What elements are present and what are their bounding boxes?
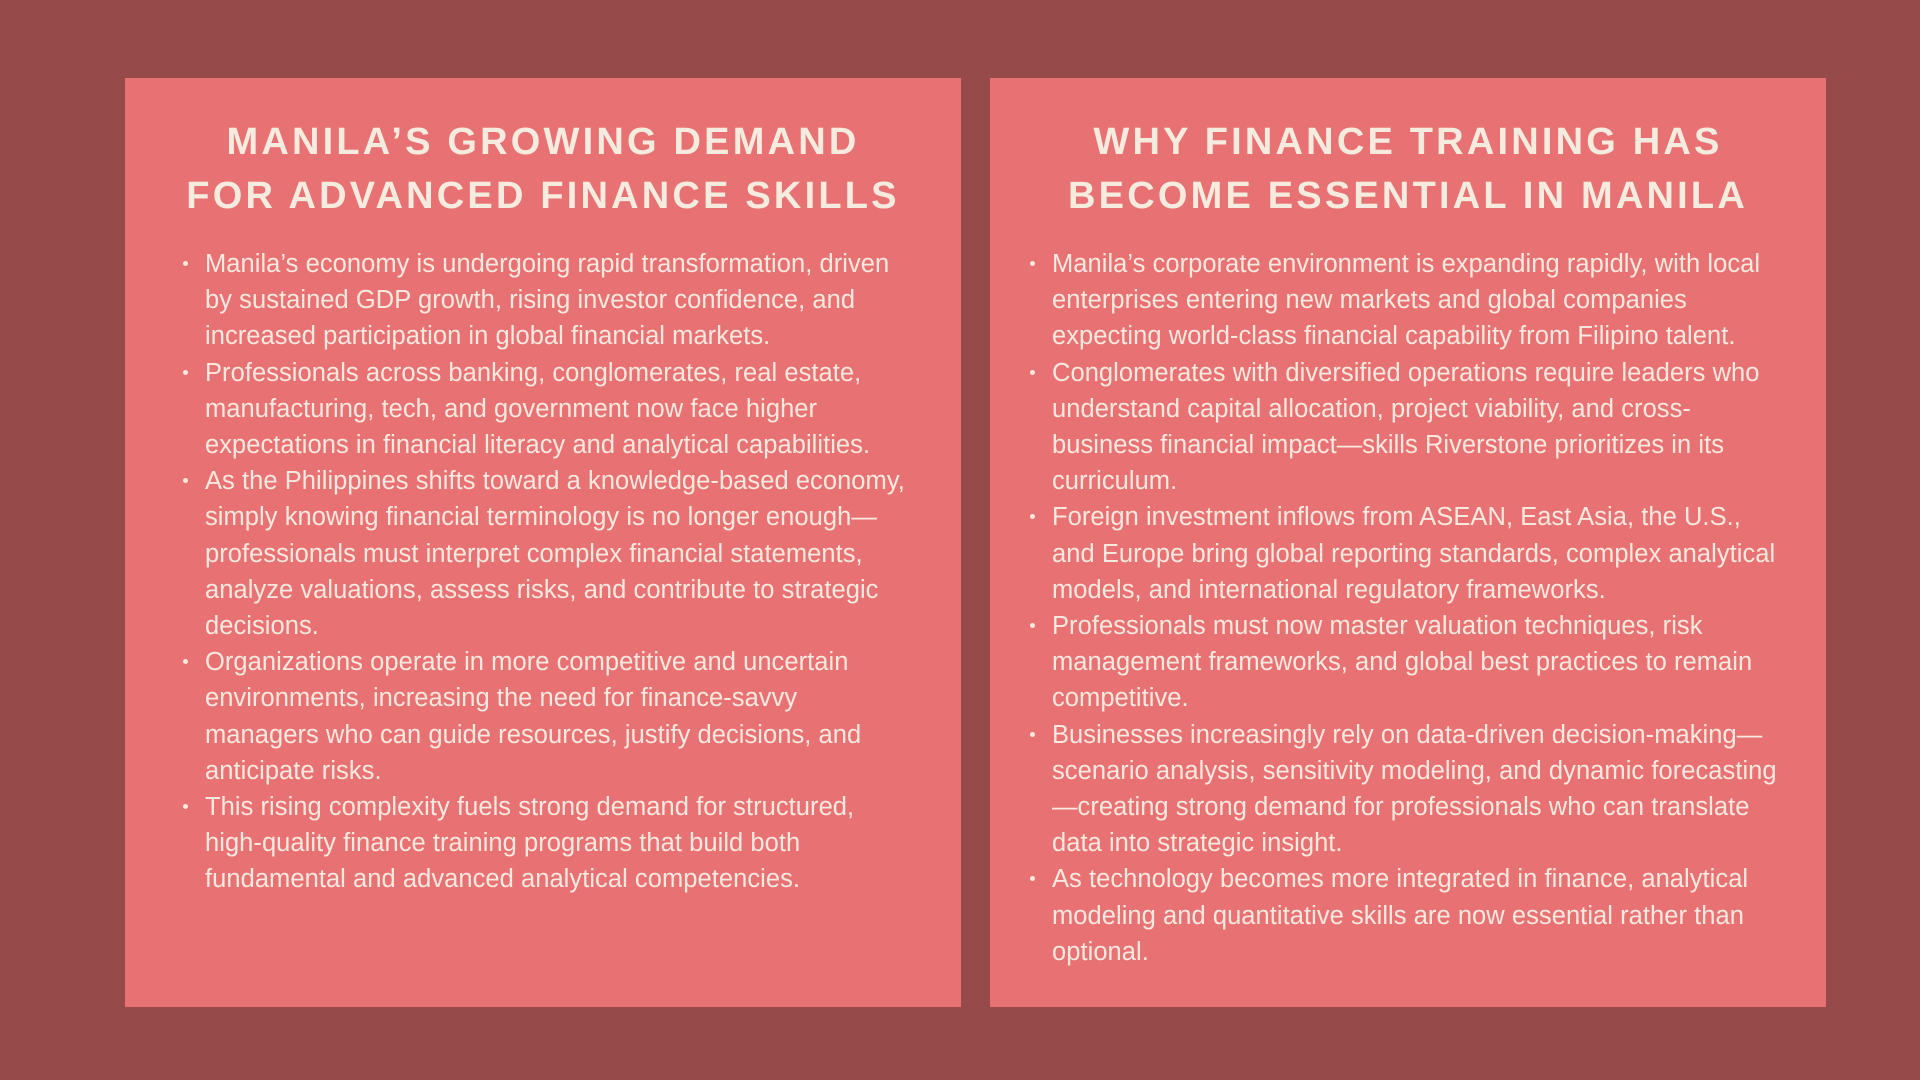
- list-item: Businesses increasingly rely on data-dri…: [1052, 717, 1788, 862]
- list-item: Professionals must now master valuation …: [1052, 608, 1788, 717]
- list-item: Conglomerates with diversified operation…: [1052, 355, 1788, 500]
- list-item: This rising complexity fuels strong dema…: [205, 789, 915, 898]
- panel-manila-demand: MANILA’S GROWING DEMAND FOR ADVANCED FIN…: [125, 78, 961, 1007]
- panel-why-finance-training: WHY FINANCE TRAINING HAS BECOME ESSENTIA…: [990, 78, 1826, 1007]
- list-item: Manila’s economy is undergoing rapid tra…: [205, 246, 915, 355]
- panel-container: MANILA’S GROWING DEMAND FOR ADVANCED FIN…: [125, 78, 1826, 1007]
- list-item: Foreign investment inflows from ASEAN, E…: [1052, 499, 1788, 608]
- list-item: Professionals across banking, conglomera…: [205, 355, 915, 464]
- list-item: Manila’s corporate environment is expand…: [1052, 246, 1788, 355]
- bullet-list-right: Manila’s corporate environment is expand…: [1018, 246, 1798, 970]
- list-item: As the Philippines shifts toward a knowl…: [205, 463, 915, 644]
- bullet-list-left: Manila’s economy is undergoing rapid tra…: [153, 246, 933, 898]
- panel-title-right: WHY FINANCE TRAINING HAS BECOME ESSENTIA…: [1018, 116, 1798, 224]
- list-item: Organizations operate in more competitiv…: [205, 644, 915, 789]
- list-item: As technology becomes more integrated in…: [1052, 861, 1788, 970]
- slide-canvas: MANILA’S GROWING DEMAND FOR ADVANCED FIN…: [0, 0, 1920, 1080]
- panel-title-left: MANILA’S GROWING DEMAND FOR ADVANCED FIN…: [153, 116, 933, 224]
